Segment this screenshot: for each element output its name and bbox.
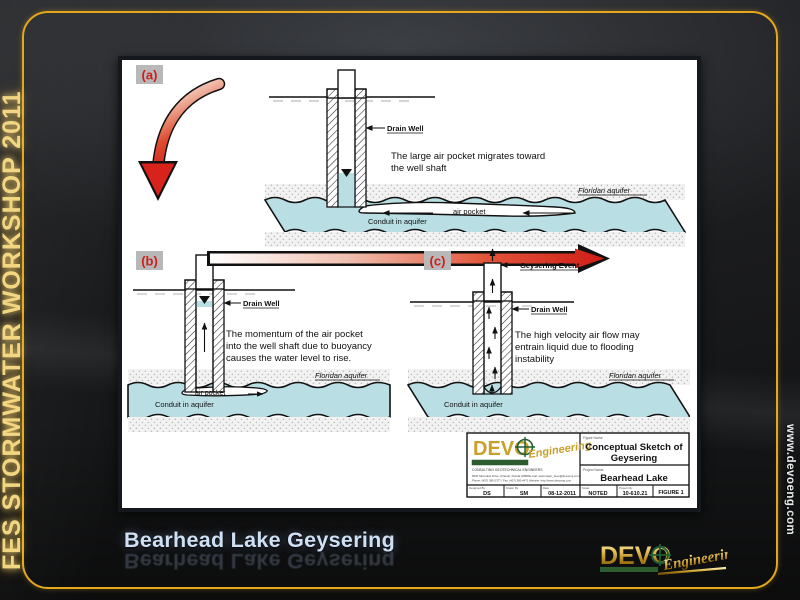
panel-a-air-pocket-label: air pocket [453,207,486,216]
titleblock-field-caption-0: Designed By: [469,486,486,490]
panel-c-geysering-event-label: Geysering Event [520,261,580,270]
geysering-figure: (a) Drain Well The large air pocket migr… [123,61,690,501]
panel-c-tag: (c) [430,254,446,269]
devo-logo: DEVO Engineering [598,536,728,590]
titleblock-project-name: Bearhead Lake [600,473,668,484]
panel-b-note-line3: causes the water level to rise. [226,353,351,364]
right-vertical-url: www.devoeng.com [784,424,796,535]
title-block: DEVO Engineering CONSULTING GEOTECHNICAL… [467,433,689,497]
titleblock-address-line2: Phone: (407) 380-2377 / Fax: (407) 380-4… [472,479,529,483]
panel-a-note-line1: The large air pocket migrates toward [391,151,545,162]
panel-b-air-pocket-label: air pocket [195,390,225,397]
titleblock-field-caption-3: Scale: [582,486,590,490]
titleblock-field-value-0: DS [483,491,491,497]
titleblock-figure-name-line1: Conceptual Sketch of [585,442,683,453]
drawing-sheet-frame: (a) Drain Well The large air pocket migr… [118,56,701,512]
panel-b-conduit-label: Conduit in aquifer [155,400,214,409]
titleblock-project-name-caption: Project Name [583,468,604,472]
panel-c-drain-well-label: Drain Well [531,305,568,314]
panel-a-note-line2: the well shaft [391,163,447,174]
panel-c: (c) Geysering Event Drain Well The high … [408,249,690,432]
titleblock-address-line1: 5600 Silverdust Drive, Orlando, Florida … [472,474,529,478]
titleblock-company-sub: CONSULTING GEOTECHNICAL ENGINEERS [472,468,543,472]
panel-b-drain-well-label: Drain Well [243,299,280,308]
titleblock-figure-name-caption: Figure Name [583,436,603,440]
panel-b: (b) Drain Well The momentum of the air p… [128,251,390,432]
panel-b-tag: (b) [141,254,158,269]
titleblock-field-value-5: FIGURE 1 [658,490,683,496]
panel-a-drain-well-label: Drain Well [387,124,424,133]
panel-a-conduit-label: Conduit in aquifer [368,217,427,226]
panel-c-note-line3: instability [515,354,554,365]
panel-b-aquifer-label: Floridan aquifer [315,371,368,380]
drawing-sheet-inner-border: (a) Drain Well The large air pocket migr… [122,60,697,508]
panel-a-aquifer-label: Floridan aquifer [578,186,631,195]
panel-c-conduit-label: Conduit in aquifer [444,400,503,409]
titleblock-field-value-2: 08-12-2011 [548,491,576,497]
panel-a: (a) Drain Well The large air pocket migr… [136,65,685,247]
titleblock-field-value-3: NOTED [588,491,607,497]
titleblock-field-caption-4: Project No: [619,486,633,490]
panel-c-note-line2: entrain liquid due to flooding [515,342,634,353]
left-vertical-banner: FES STORMWATER WORKSHOP 2011 [0,10,27,570]
page-title: Bearhead Lake Geysering [124,528,395,553]
panel-c-note-line1: The high velocity air flow may [515,330,640,341]
titleblock-contact-line2: Website: http://www.devoeng.com [529,479,572,483]
titleblock-field-value-1: SM [520,491,529,497]
panel-b-note-line2: into the well shaft due to buoyancy [226,341,372,352]
titleblock-field-value-4: 10-610.21 [623,491,648,497]
titleblock-contact-line1: E-mail: webmaster_devo@devoeng.com [529,474,580,478]
panel-a-tag: (a) [142,68,158,83]
drawing-sheet: (a) Drain Well The large air pocket migr… [123,61,696,507]
titleblock-field-caption-2: Date: [543,486,550,490]
panel-b-note-line1: The momentum of the air pocket [226,329,363,340]
panel-c-aquifer-label: Floridan aquifer [609,371,662,380]
presentation-slide: FES STORMWATER WORKSHOP 2011 www.devoeng… [0,0,800,600]
titleblock-field-caption-1: Drawn By: [506,486,519,490]
titleblock-figure-name-line2: Geysering [611,453,658,464]
